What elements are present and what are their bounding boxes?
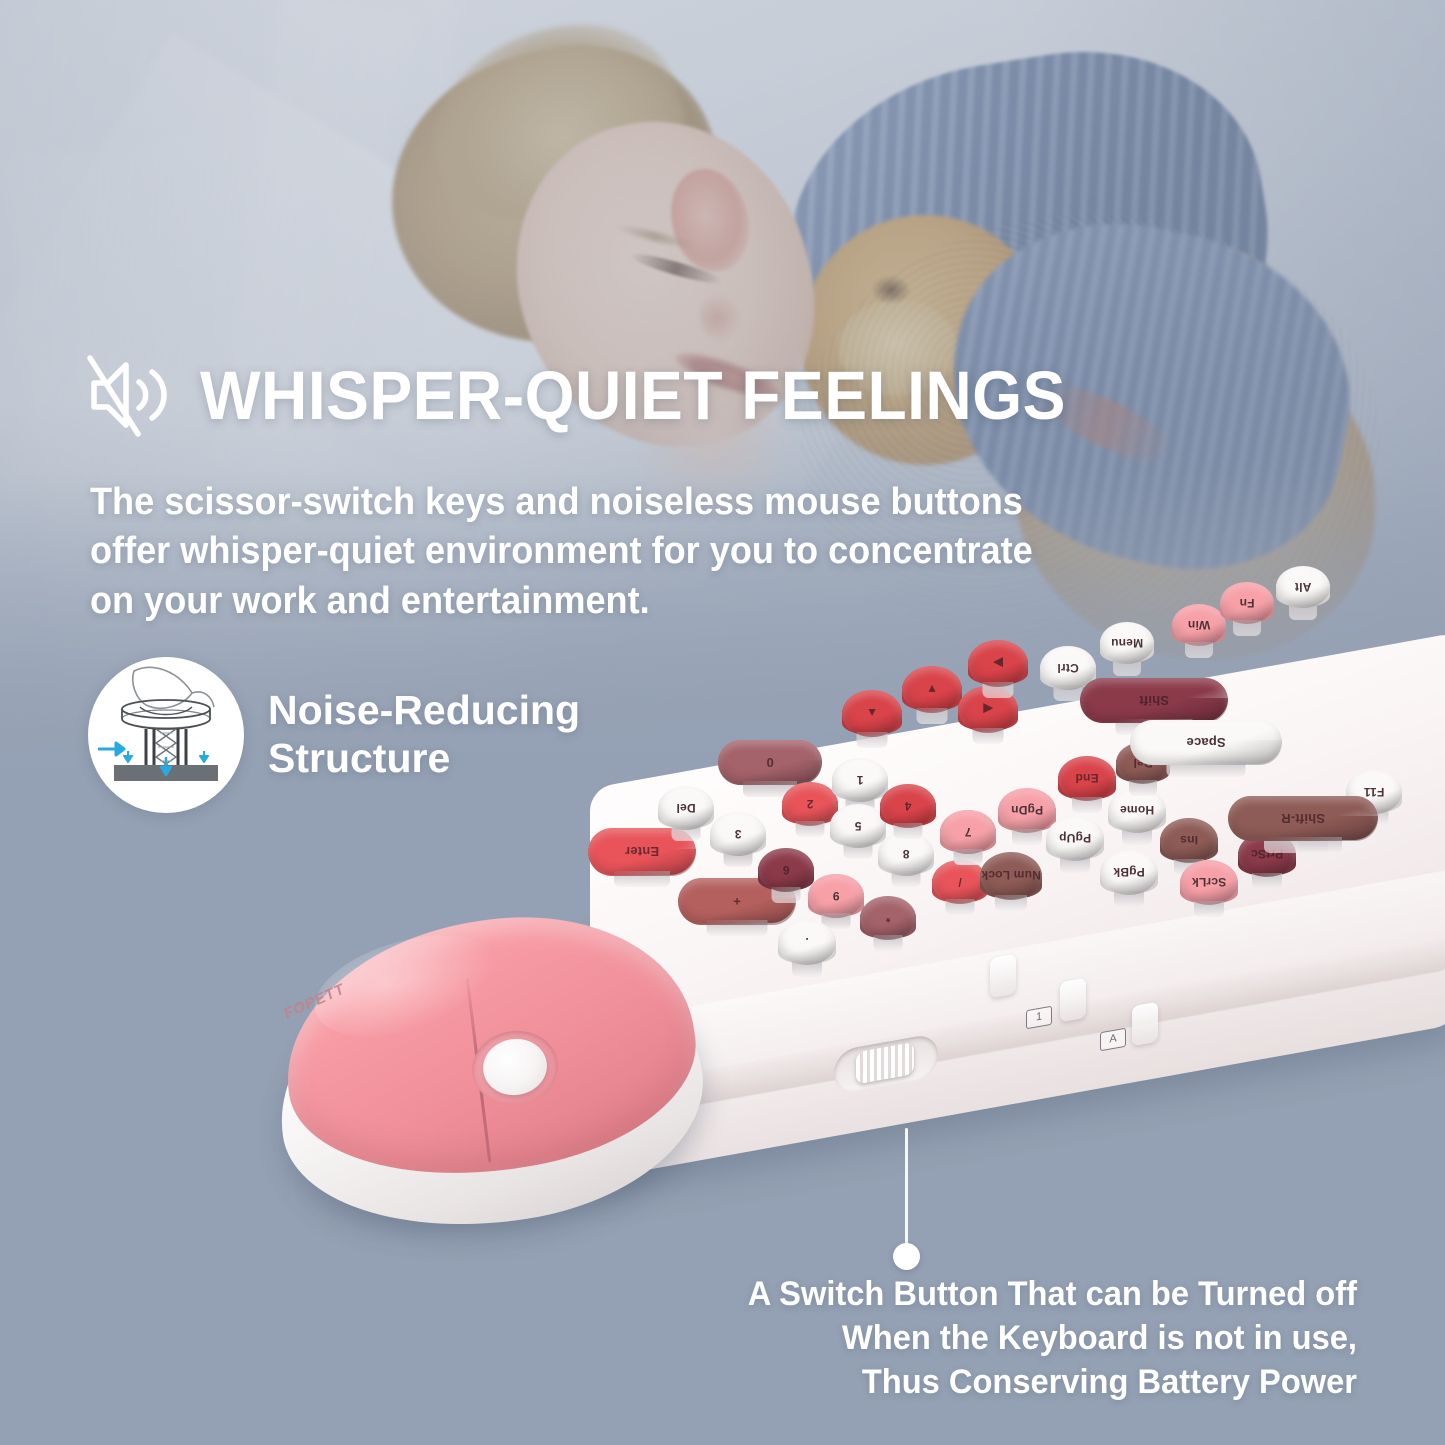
callout-leader-line: [905, 1128, 908, 1258]
keycap[interactable]: PgUp: [1046, 816, 1104, 874]
keycap[interactable]: Menu: [1100, 622, 1154, 676]
keycap-label: 9: [808, 889, 864, 903]
keycap-label: Ins: [1160, 833, 1218, 847]
mute-speaker-icon: [86, 352, 178, 438]
keycap[interactable]: Num Lock: [980, 852, 1042, 914]
keycap-label: Fn: [1220, 596, 1274, 610]
feature-label: Noise-Reducing Structure: [268, 687, 580, 782]
caption-line-2: When the Keyboard is not in use,: [685, 1316, 1357, 1360]
keycap[interactable]: ▼: [902, 666, 962, 726]
keycap-label: Shift: [1080, 693, 1228, 708]
keycap-label: 8: [878, 847, 934, 861]
scroll-lock-indicator: [1132, 1002, 1158, 1047]
keycap[interactable]: Space: [1130, 720, 1282, 778]
switch-caption: A Switch Button That can be Turned off W…: [685, 1272, 1357, 1405]
wireless-mouse: FOPETT: [272, 905, 712, 1250]
keycap-label: Win: [1172, 618, 1226, 632]
keycap-label: ◀: [958, 702, 1018, 716]
description-line-1: The scissor-switch keys and noiseless mo…: [90, 478, 1078, 527]
caps-lock-indicator: [1060, 978, 1086, 1023]
keycap-label: Del: [658, 801, 714, 815]
caption-line-1: A Switch Button That can be Turned off: [685, 1272, 1357, 1316]
keycap[interactable]: 6: [758, 848, 814, 904]
keycap-label: 4: [880, 799, 936, 813]
keycap[interactable]: ScrLk: [1180, 860, 1238, 918]
keycap-label: Home: [1108, 803, 1166, 817]
keycap-label: ▲: [842, 706, 902, 720]
page-title: WHISPER-QUIET FEELINGS: [200, 361, 1066, 430]
promo-banner: WHISPER-QUIET FEELINGS The scissor-switc…: [0, 0, 1445, 1445]
keycap[interactable]: ▲: [842, 690, 902, 750]
keycap-label: Menu: [1100, 636, 1154, 650]
feature-label-line-1: Noise-Reducing: [268, 687, 580, 735]
keycap[interactable]: Shift-R: [1228, 796, 1378, 854]
headline-row: WHISPER-QUIET FEELINGS: [86, 352, 1131, 438]
keycap-label: 2: [782, 797, 838, 811]
keycap-label: ▼: [902, 682, 962, 696]
keycap-label: Shift-R: [1228, 811, 1378, 826]
keycap-label: 3: [710, 827, 766, 841]
keycap[interactable]: .: [778, 920, 836, 978]
num-lock-indicator: [990, 954, 1016, 999]
keycap-label: 5: [830, 819, 886, 833]
keycap[interactable]: 7: [940, 810, 996, 866]
feature-callout: Noise-Reducing Structure: [88, 657, 580, 813]
callout-leader-dot: [893, 1243, 920, 1270]
keycap-label: ScrLk: [1180, 875, 1238, 889]
keycap[interactable]: ▶: [968, 640, 1028, 700]
keycap-label: *: [860, 911, 916, 925]
scissor-switch-diagram-icon: [88, 657, 244, 813]
caption-line-3: Thus Conserving Battery Power: [685, 1360, 1357, 1404]
keycap-label: Alt: [1276, 580, 1330, 594]
keycap-label: Ctrl: [1040, 661, 1096, 675]
keycap[interactable]: Fn: [1220, 582, 1274, 636]
keycap-label: PgBk: [1100, 865, 1158, 879]
keycap[interactable]: Alt: [1276, 566, 1330, 620]
keycap-label: 1: [832, 773, 888, 787]
keycap[interactable]: Del: [658, 786, 714, 842]
keycap[interactable]: PgBk: [1100, 850, 1158, 908]
keycap-label: End: [1058, 771, 1116, 785]
feature-label-line-2: Structure: [268, 735, 580, 783]
keycap[interactable]: 3: [710, 812, 766, 868]
keycap-label: .: [778, 935, 836, 949]
keycap-label: Enter: [588, 844, 696, 859]
keycap-label: ▶: [968, 656, 1028, 670]
keycap-label: Space: [1130, 735, 1282, 750]
keycap-label: PgUp: [1046, 831, 1104, 845]
keycap-label: 0: [718, 755, 822, 770]
keycap[interactable]: *: [860, 896, 916, 952]
keycap-label: Num Lock: [980, 868, 1042, 882]
keycap-label: 7: [940, 825, 996, 839]
keycap[interactable]: 4: [880, 784, 936, 840]
keycap-label: 6: [758, 863, 814, 877]
keycap[interactable]: Home: [1108, 788, 1166, 846]
keycap-label: PgDn: [998, 803, 1056, 817]
keycap[interactable]: Win: [1172, 604, 1226, 658]
noise-reducing-badge: [88, 657, 244, 813]
keycap[interactable]: 8: [878, 832, 934, 888]
